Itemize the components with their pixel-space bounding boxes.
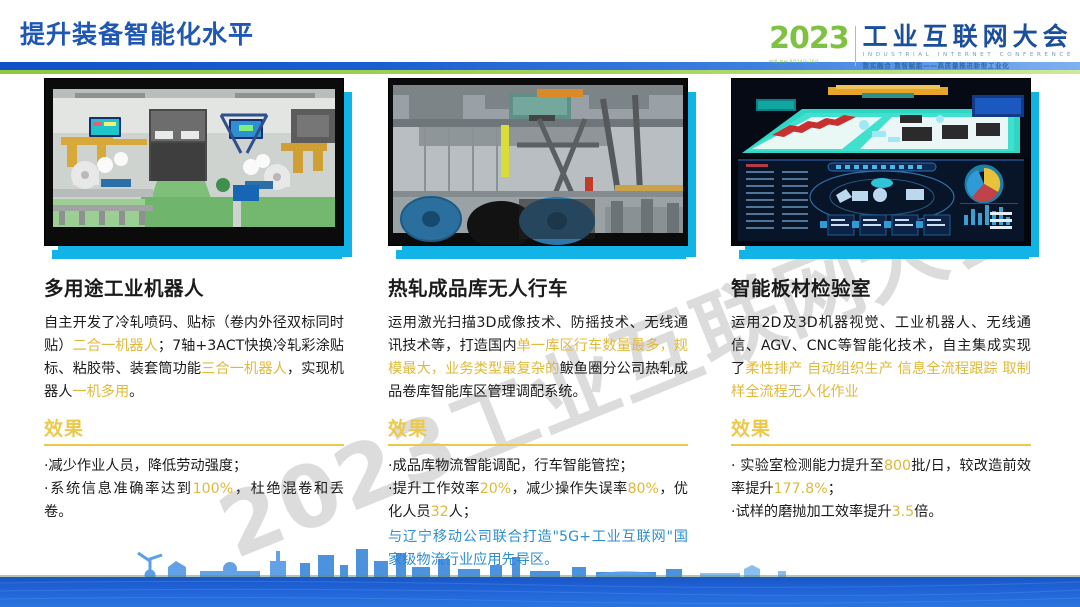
logo-divider bbox=[855, 26, 856, 66]
content-columns: 多用途工业机器人 自主开发了冷轧喷码、贴标（卷内外径双标同时贴）二合一机器人；7… bbox=[0, 78, 1080, 578]
highlighted-text-run: 柔性排产 自动组织生产 信息全流程跟踪 取制样全流程无人化作业 bbox=[731, 361, 1031, 400]
accent-bar-1 bbox=[396, 250, 686, 259]
text-run: ； bbox=[828, 481, 842, 497]
text-run: ·试样的磨抛加工效率提升 bbox=[731, 504, 892, 520]
content-column-2: 智能板材检验室 运用2D及3D机器视觉、工业机器人、无线通信、AGV、CNC等智… bbox=[731, 78, 1031, 524]
text-run: 人； bbox=[449, 504, 477, 520]
intelligent-plate-inspection-lab-photo bbox=[731, 78, 1031, 246]
highlighted-text-run: 二合一机器人 bbox=[72, 338, 157, 354]
logo-tagline: 数实融合 数智赋能——高质量推进新型工业化 bbox=[863, 60, 1074, 70]
effect-rule-0 bbox=[44, 444, 344, 446]
highlighted-text-run: 32 bbox=[431, 504, 449, 520]
text-run: ，减少操作失误率 bbox=[511, 481, 627, 497]
effect-body-2: · 实验室检测能力提升至800批/日，较改造前效率提升177.8%；·试样的磨抛… bbox=[731, 455, 1031, 524]
effect-rule-1 bbox=[388, 444, 688, 446]
conference-logo: 2023 中国·苏州 8月14日-16日 工业互联网大会 INDUSTRIAL … bbox=[769, 24, 1074, 68]
content-column-1: 热轧成品库无人行车 运用激光扫描3D成像技术、防摇技术、无线通讯技术等，打造国内… bbox=[388, 78, 688, 572]
effect-body-0: ·减少作业人员，降低劳动强度；·系统信息准确率达到100%，杜绝混卷和丢卷。 bbox=[44, 455, 344, 524]
card-title-1: 热轧成品库无人行车 bbox=[388, 272, 688, 301]
accent-bar-2 bbox=[739, 250, 1029, 259]
industrial-city-skyline-decoration bbox=[0, 545, 1080, 579]
highlighted-text-run: 20% bbox=[480, 481, 512, 497]
multi-purpose-industrial-robot-photo bbox=[44, 78, 344, 246]
highlighted-text-run: 100% bbox=[193, 481, 234, 497]
text-run: ·系统信息准确率达到 bbox=[44, 481, 193, 497]
text-run: 。 bbox=[129, 384, 143, 400]
hot-rolled-warehouse-crane-photo bbox=[388, 78, 688, 246]
card-title-2: 智能板材检验室 bbox=[731, 272, 1031, 301]
effect-rule-2 bbox=[731, 444, 1031, 446]
text-run: ·减少作业人员，降低劳动强度； bbox=[44, 458, 247, 474]
photo-frame-2 bbox=[731, 78, 1031, 246]
photo-frame-0 bbox=[44, 78, 344, 246]
effect-body-1: ·成品库物流智能调配，行车智能管控；·提升工作效率20%，减少操作失误率80%，… bbox=[388, 455, 688, 524]
logo-name-cn: 工业互联网大会 bbox=[863, 24, 1074, 50]
text-run: ·提升工作效率 bbox=[388, 481, 480, 497]
highlighted-text-run: 一机多用 bbox=[72, 384, 129, 400]
effect-heading-0: 效果 bbox=[44, 414, 344, 441]
header-rule-green bbox=[0, 70, 1080, 74]
text-run: · 实验室检测能力提升至 bbox=[731, 458, 884, 474]
accent-bar-0 bbox=[52, 250, 342, 259]
highlighted-text-run: 3.5 bbox=[892, 504, 915, 520]
photo-frame-1 bbox=[388, 78, 688, 246]
content-column-0: 多用途工业机器人 自主开发了冷轧喷码、贴标（卷内外径双标同时贴）二合一机器人；7… bbox=[44, 78, 344, 524]
highlighted-text-run: 177.8% bbox=[774, 481, 828, 497]
highlighted-text-run: 80% bbox=[627, 481, 659, 497]
highlighted-text-run: 800 bbox=[884, 458, 911, 474]
logo-year: 2023 bbox=[769, 24, 855, 54]
effect-heading-2: 效果 bbox=[731, 414, 1031, 441]
effect-heading-1: 效果 bbox=[388, 414, 688, 441]
slide-root: 提升装备智能化水平 2023 中国·苏州 8月14日-16日 工业互联网大会 I… bbox=[0, 0, 1080, 607]
card-body-2: 运用2D及3D机器视觉、工业机器人、无线通信、AGV、CNC等智能化技术，自主集… bbox=[731, 312, 1031, 404]
card-title-0: 多用途工业机器人 bbox=[44, 272, 344, 301]
card-body-1: 运用激光扫描3D成像技术、防摇技术、无线通讯技术等，打造国内单一库区行车数量最多… bbox=[388, 312, 688, 404]
highlighted-text-run: 三合一机器人 bbox=[201, 361, 287, 377]
page-title: 提升装备智能化水平 bbox=[20, 15, 254, 51]
footer-band bbox=[0, 577, 1080, 607]
text-run: ·成品库物流智能调配，行车智能管控； bbox=[388, 458, 634, 474]
logo-name-en: INDUSTRIAL INTERNET CONFERENCE bbox=[863, 52, 1074, 58]
logo-year-subtitle: 中国·苏州 8月14日-16日 bbox=[769, 59, 819, 65]
card-body-0: 自主开发了冷轧喷码、贴标（卷内外径双标同时贴）二合一机器人；7轴+3ACT快换冷… bbox=[44, 312, 344, 404]
text-run: 倍。 bbox=[914, 504, 942, 520]
